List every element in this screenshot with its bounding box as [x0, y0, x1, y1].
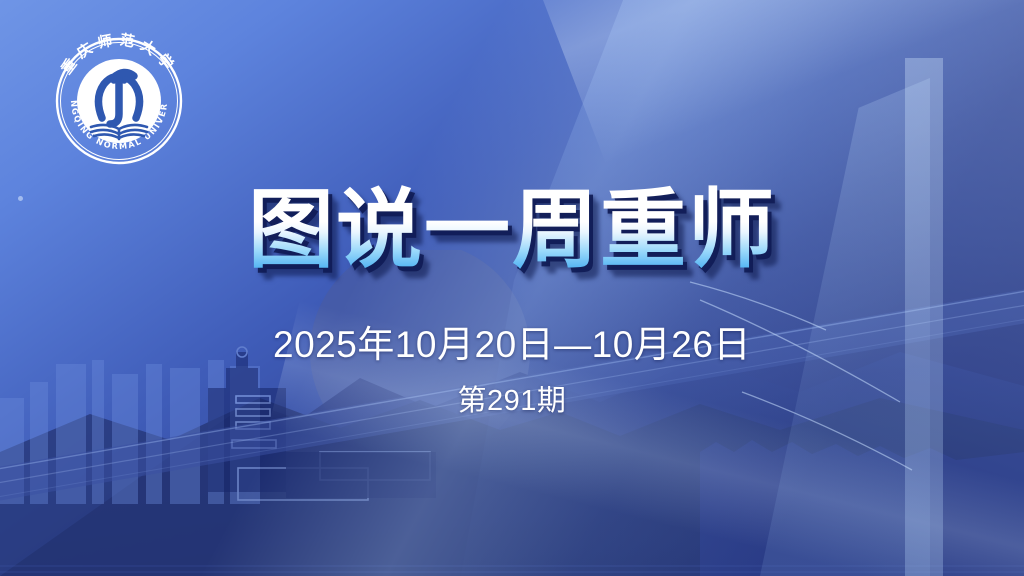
- issue-number-label: 第291期: [0, 383, 1024, 419]
- slide-canvas: 重庆师范大学 CHONGQING NORMAL UNIVERSITY 图说一周重…: [0, 0, 1024, 576]
- right-glass-panel-narrow: [905, 58, 943, 576]
- university-logo: 重庆师范大学 CHONGQING NORMAL UNIVERSITY: [44, 26, 194, 176]
- page-title: 图说一周重师: [0, 178, 1024, 282]
- date-range-label: 2025年10月20日—10月26日: [0, 322, 1024, 368]
